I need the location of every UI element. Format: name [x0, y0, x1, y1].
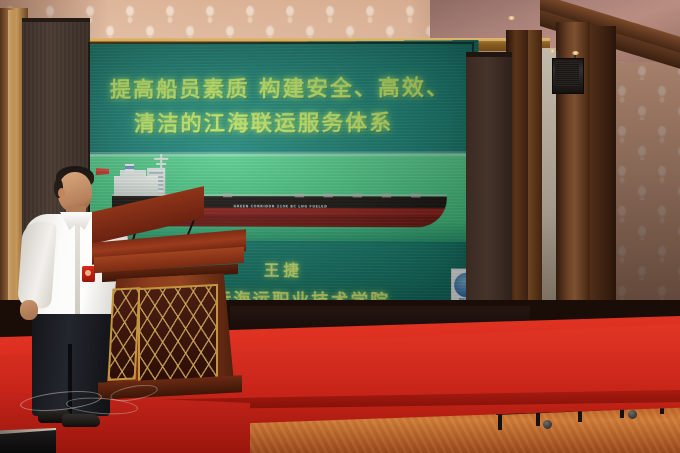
downlight-icon: [549, 49, 556, 53]
person-ear: [58, 188, 65, 198]
left-panel-top-edge: [22, 18, 90, 22]
spotlight-rod: [556, 51, 558, 58]
stage-caster-wheel: [628, 410, 637, 419]
downlight-icon: [572, 51, 579, 55]
person-shoe: [62, 414, 100, 427]
left-frame-highlight: [8, 10, 15, 336]
wood-beam-highlight: [80, 38, 550, 41]
wallpaper-right-shading: [612, 40, 680, 340]
podium-front-lattice-panel: [138, 284, 218, 384]
podium-side-lattice-panel: [108, 287, 141, 381]
person-hand: [20, 300, 38, 320]
person-badge-emblem: [85, 270, 91, 276]
stage-caster-wheel: [543, 420, 552, 429]
right-panel-top-edge: [466, 52, 512, 57]
person-shirt-placket: [75, 222, 80, 314]
speaker-podium: [96, 236, 242, 396]
loudspeaker-grill: [555, 61, 579, 87]
conference-presentation-photo: GREEN CORRIDOR 210K BC LNG FUELED 提高船员素质…: [0, 0, 680, 453]
downlight-icon: [508, 16, 515, 20]
person-sleeve-arm: [17, 221, 57, 309]
